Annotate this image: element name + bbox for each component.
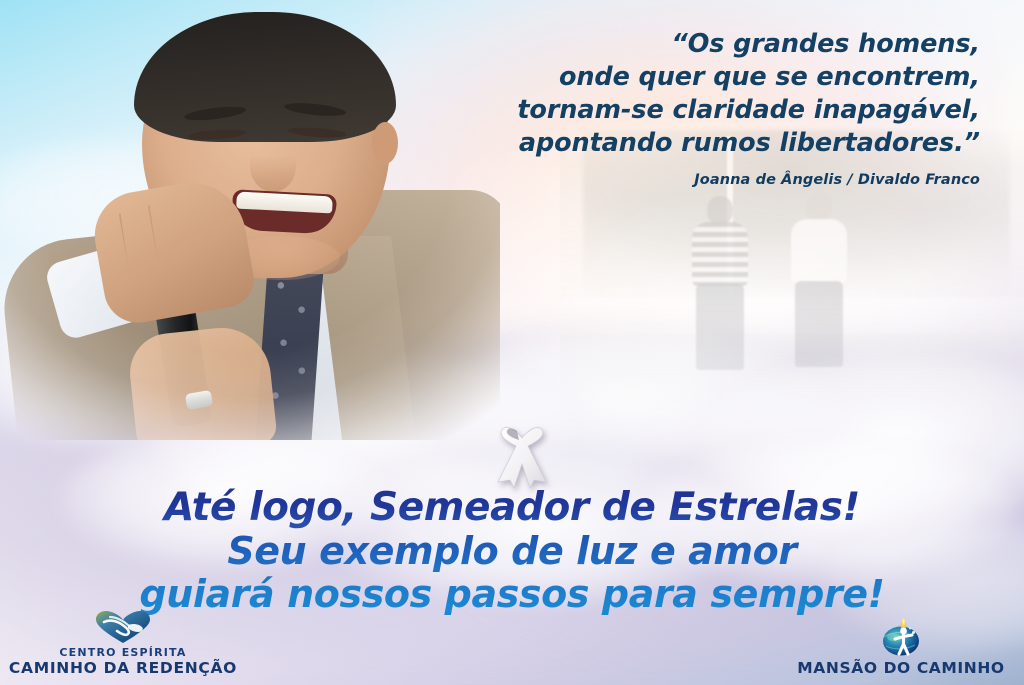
figure-torso — [791, 219, 847, 283]
logo-right-line-2: MANSÃO DO CAMINHO — [786, 659, 1016, 677]
memorial-poster: “Os grandes homens, onde quer que se enc… — [0, 0, 1024, 685]
quote-line-4: apontando rumos libertadores.” — [420, 127, 980, 160]
photo-figure-striped-shirt — [690, 196, 750, 376]
globe-figure-icon — [877, 615, 925, 657]
photo-figure-white-shirt — [787, 193, 851, 379]
heart-hands-icon — [94, 610, 152, 644]
hand-holding-microphone — [126, 323, 278, 457]
quote-line-1: “Os grandes homens, — [420, 28, 980, 61]
quote-line-2: onde quer que se encontrem, — [420, 61, 980, 94]
teeth — [236, 192, 333, 214]
logo-centro-espirita-caminho-da-redencao: CENTRO ESPÍRITA CAMINHO DA REDENÇÃO — [8, 610, 238, 677]
ear — [372, 122, 398, 164]
figure-head — [806, 193, 832, 221]
logo-left-line-2: CAMINHO DA REDENÇÃO — [8, 659, 238, 677]
hair — [134, 12, 396, 142]
logo-mansao-do-caminho: MANSÃO DO CAMINHO — [786, 615, 1016, 677]
figure-legs — [696, 284, 744, 370]
headline-line-2: Seu exemplo de luz e amor — [0, 530, 1024, 572]
quote-block: “Os grandes homens, onde quer que se enc… — [420, 28, 980, 188]
nose — [250, 140, 296, 192]
figure-legs — [795, 281, 843, 367]
figure-torso — [692, 222, 748, 286]
headline-block: Até logo, Semeador de Estrelas! Seu exem… — [0, 486, 1024, 616]
logo-left-line-1: CENTRO ESPÍRITA — [8, 646, 238, 659]
white-ribbon-icon — [486, 408, 558, 490]
figure-head — [707, 196, 733, 224]
quote-author: Joanna de Ângelis / Divaldo Franco — [420, 172, 980, 188]
headline-line-1: Até logo, Semeador de Estrelas! — [0, 486, 1024, 530]
quote-line-3: tornam-se claridade inapagável, — [420, 94, 980, 127]
